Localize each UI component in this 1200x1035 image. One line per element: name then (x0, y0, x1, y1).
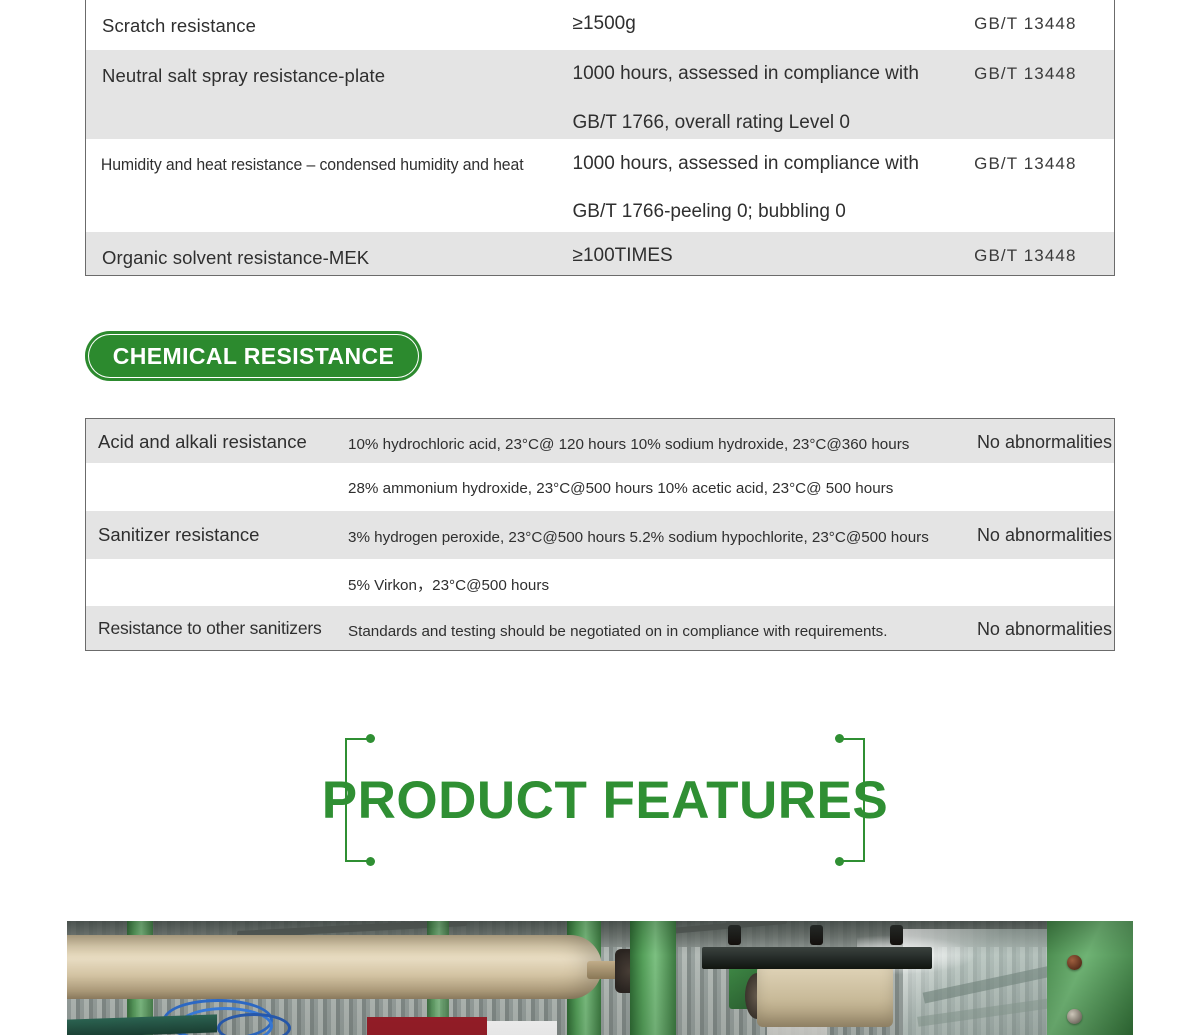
product-features-title: PRODUCT FEATURES (345, 738, 865, 862)
row-value: ≥100TIMES (573, 232, 973, 270)
photo-large-kraft-roller (67, 935, 602, 999)
row-property-label: Humidity and heat resistance – condensed… (86, 139, 538, 175)
photo-blue-hose (217, 1013, 291, 1035)
row-value-line: ≥1500g (573, 10, 973, 38)
row-result (966, 559, 1114, 573)
row-property-label: Resistance to other sanitizers (86, 606, 348, 639)
photo-white-machine-panel (487, 1021, 557, 1035)
row-result: No abnormalities (966, 606, 1114, 640)
chemical-resistance-table: Acid and alkali resistance 10% hydrochlo… (85, 418, 1115, 651)
row-value-line: ≥100TIMES (573, 242, 973, 270)
product-features-heading: PRODUCT FEATURES (345, 738, 865, 862)
row-detail: 28% ammonium hydroxide, 23°C@500 hours 1… (348, 463, 966, 499)
row-property-label: Sanitizer resistance (86, 511, 348, 546)
photo-machine-upright (630, 921, 676, 1035)
row-value-line: 1000 hours, assessed in compliance with (573, 150, 973, 178)
row-result: No abnormalities (966, 511, 1114, 546)
table-row: 5% Virkon，23°C@500 hours (86, 559, 1114, 606)
row-property-label: Organic solvent resistance-MEK (86, 232, 573, 269)
physical-properties-table: Scratch resistance ≥1500g GB/T 13448 Neu… (85, 0, 1115, 276)
photo-beam-bolt (890, 925, 903, 945)
table-row: Neutral salt spray resistance-plate 1000… (86, 50, 1114, 139)
row-value-line: 1000 hours, assessed in compliance with (573, 60, 973, 88)
table-row: 28% ammonium hydroxide, 23°C@500 hours 1… (86, 463, 1114, 511)
row-standard: GB/T 13448 (972, 50, 1114, 84)
row-value: ≥1500g (573, 0, 973, 38)
photo-overhead-beam (702, 947, 932, 969)
row-standard: GB/T 13448 (972, 0, 1114, 34)
row-detail: Standards and testing should be negotiat… (348, 606, 966, 642)
table-row: Scratch resistance ≥1500g GB/T 13448 (86, 0, 1114, 50)
factory-production-line-photo (67, 921, 1133, 1035)
row-value-line: GB/T 1766-peeling 0; bubbling 0 (573, 198, 973, 226)
row-standard: GB/T 13448 (972, 139, 1114, 174)
photo-adjustment-knob (1067, 955, 1082, 970)
table-row: Acid and alkali resistance 10% hydrochlo… (86, 419, 1114, 463)
row-detail: 10% hydrochloric acid, 23°C@ 120 hours 1… (348, 419, 966, 455)
row-result (966, 463, 1114, 476)
row-result: No abnormalities (966, 419, 1114, 453)
row-property-label: Acid and alkali resistance (86, 419, 348, 453)
photo-beam-bolt (810, 925, 823, 945)
chemical-resistance-badge: CHEMICAL RESISTANCE (85, 331, 422, 381)
row-standard: GB/T 13448 (972, 232, 1114, 266)
photo-adjustment-knob (1067, 1009, 1082, 1024)
row-property-label: Neutral salt spray resistance-plate (86, 50, 573, 87)
row-detail: 5% Virkon，23°C@500 hours (348, 559, 966, 596)
photo-red-machine-body (367, 1017, 487, 1035)
table-row: Sanitizer resistance 3% hydrogen peroxid… (86, 511, 1114, 559)
table-row: Humidity and heat resistance – condensed… (86, 139, 1114, 232)
row-property-label (86, 559, 348, 572)
photo-beam-bolt (728, 925, 741, 945)
row-detail: 3% hydrogen peroxide, 23°C@500 hours 5.2… (348, 511, 966, 548)
chemical-resistance-badge-label: CHEMICAL RESISTANCE (113, 343, 395, 370)
row-property-label (86, 463, 348, 475)
row-value: 1000 hours, assessed in compliance with … (573, 139, 973, 225)
table-row: Resistance to other sanitizers Standards… (86, 606, 1114, 650)
row-value: 1000 hours, assessed in compliance with … (573, 50, 973, 136)
photo-machine-arm (1047, 921, 1133, 1035)
row-property-label: Scratch resistance (86, 0, 573, 37)
row-value-line: GB/T 1766, overall rating Level 0 (573, 109, 973, 137)
table-row: Organic solvent resistance-MEK ≥100TIMES… (86, 232, 1114, 275)
photo-small-kraft-roller (757, 965, 893, 1027)
